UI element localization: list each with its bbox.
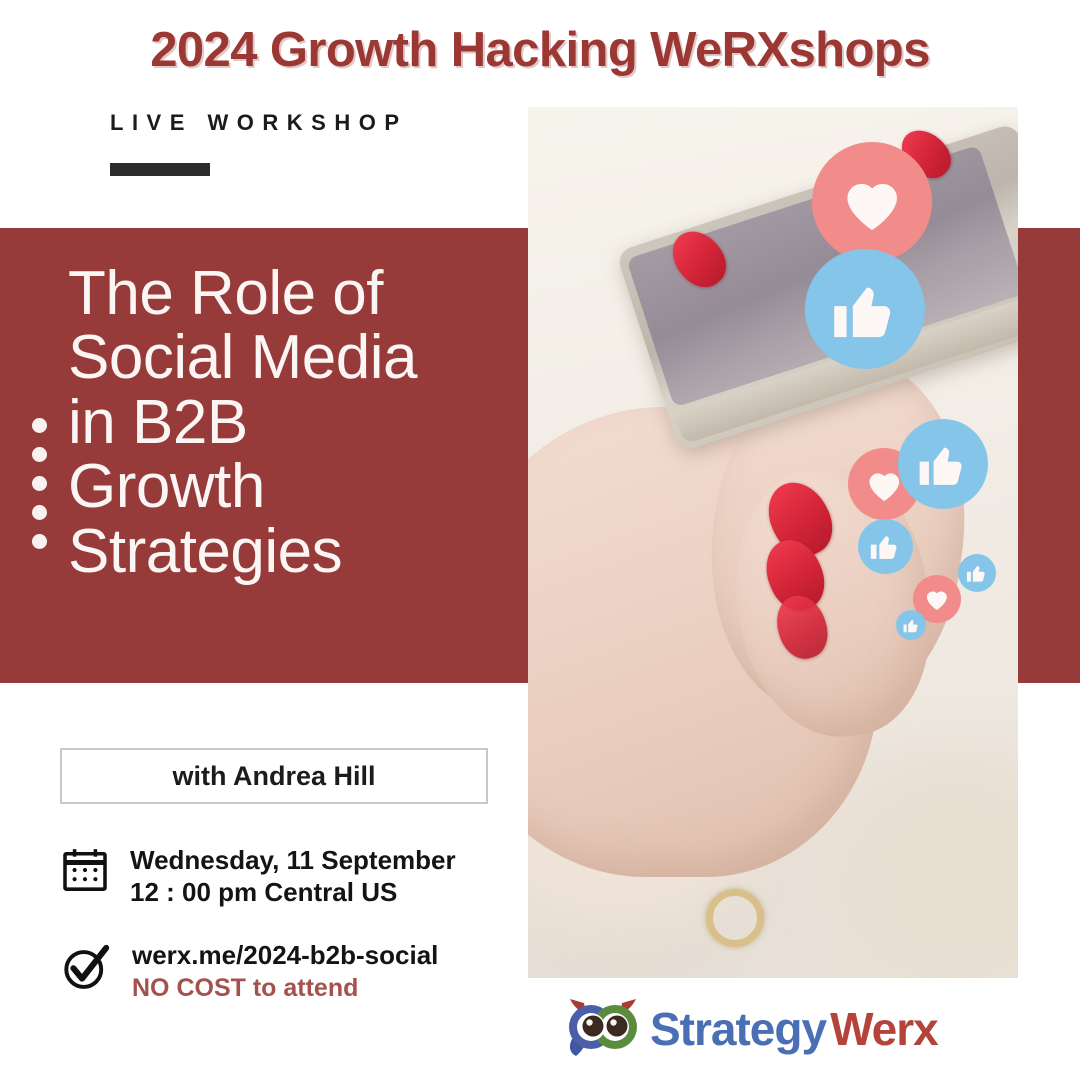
reaction-bubble-thumb <box>896 610 926 640</box>
date-line-1: Wednesday, 11 September <box>130 845 456 877</box>
speaker-label: with Andrea Hill <box>172 761 375 792</box>
headline-line: The Role of <box>68 262 498 326</box>
hero-photo <box>528 107 1018 978</box>
cost-label: NO COST to attend <box>132 972 438 1005</box>
registration-link[interactable]: werx.me/2024-b2b-social <box>132 940 438 972</box>
headline-line: Growth <box>68 455 498 519</box>
registration-row: werx.me/2024-b2b-social NO COST to atten… <box>58 940 438 1004</box>
reaction-bubble-thumb <box>958 554 996 592</box>
dot <box>32 534 47 549</box>
brand-logo: Strategy Werx <box>560 995 938 1062</box>
headline-line: Social Media <box>68 326 498 390</box>
headline-line: Strategies <box>68 520 498 584</box>
reaction-bubble-thumb <box>858 519 913 574</box>
registration-text: werx.me/2024-b2b-social NO COST to atten… <box>132 940 438 1004</box>
reaction-bubble-thumb <box>805 249 925 369</box>
dot <box>32 476 47 491</box>
owl-mark-icon <box>560 995 646 1062</box>
event-title: 2024 Growth Hacking WeRXshops <box>0 22 1080 78</box>
dot <box>32 418 47 433</box>
logo-word-werx: Werx <box>830 1002 938 1056</box>
headline: The Role of Social Media in B2B Growth S… <box>68 262 498 584</box>
date-line-2: 12 : 00 pm Central US <box>130 877 456 909</box>
dot <box>32 505 47 520</box>
dot <box>32 447 47 462</box>
date-text: Wednesday, 11 September 12 : 00 pm Centr… <box>130 845 456 908</box>
calendar-icon <box>60 845 110 900</box>
headline-line: in B2B <box>68 391 498 455</box>
dot-column <box>32 418 47 549</box>
reaction-bubble-thumb <box>898 419 988 509</box>
speaker-box: with Andrea Hill <box>60 748 488 804</box>
poster-canvas: 2024 Growth Hacking WeRXshops LIVE WORKS… <box>0 0 1080 1080</box>
finger-ring <box>706 889 764 947</box>
check-circle-icon <box>58 940 112 999</box>
eyebrow-rule <box>110 163 210 176</box>
logo-word-strategy: Strategy <box>650 1002 826 1056</box>
reaction-bubble-heart <box>812 142 932 262</box>
eyebrow-label: LIVE WORKSHOP <box>110 110 408 136</box>
date-row: Wednesday, 11 September 12 : 00 pm Centr… <box>60 845 456 908</box>
